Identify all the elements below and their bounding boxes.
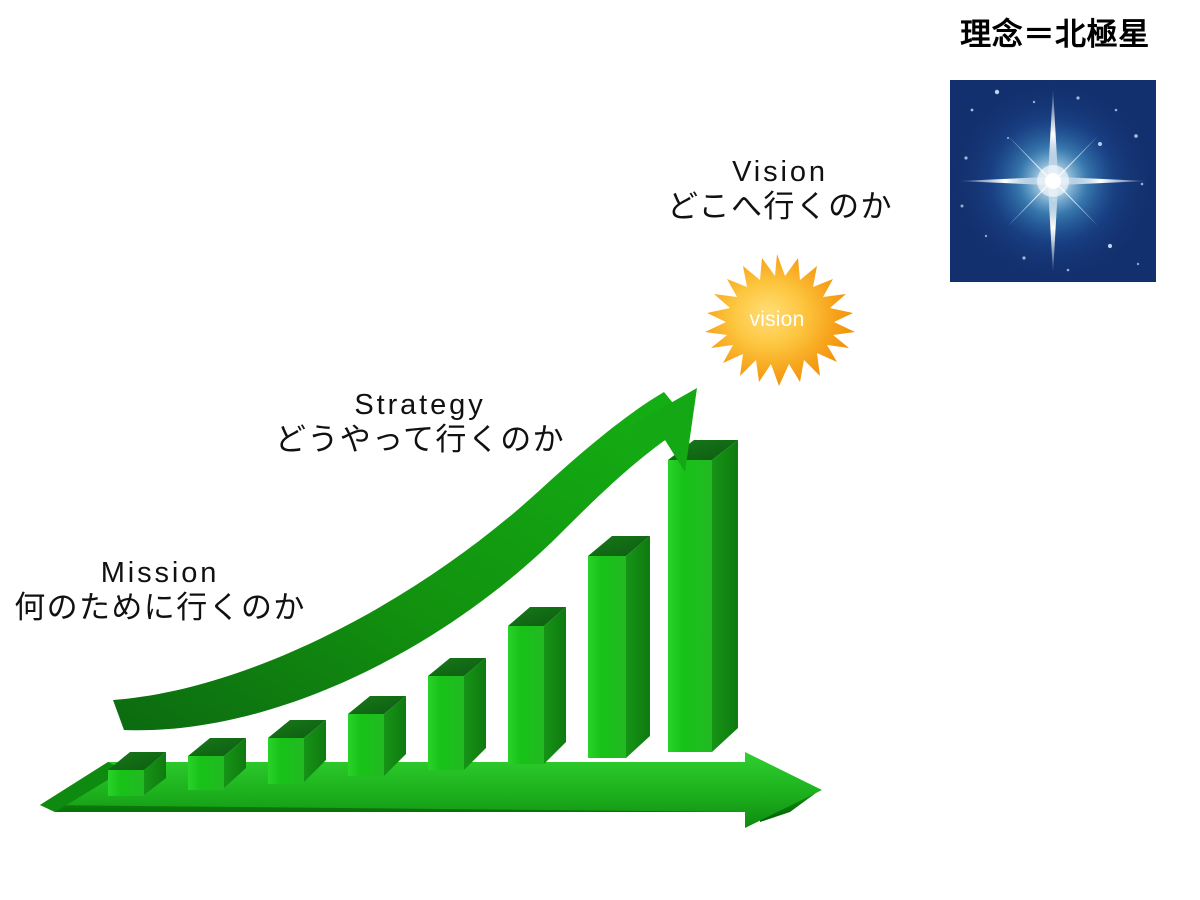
strategy-label-jp: どうやって行くのか xyxy=(255,422,585,459)
bar-8 xyxy=(668,440,738,752)
bar-5 xyxy=(428,658,486,770)
vision-sun-badge: vision xyxy=(697,252,857,388)
mission-label-jp: 何のために行くのか xyxy=(0,590,320,627)
north-star-title: 理念＝北極星 xyxy=(930,18,1180,52)
slide-canvas: vision Mission 何のために行くのか Strategy どうやって行… xyxy=(0,0,1200,900)
north-star-panel: 理念＝北極星 xyxy=(930,18,1180,288)
mission-label: Mission 何のために行くのか xyxy=(0,556,320,627)
bar-6 xyxy=(508,607,566,764)
vision-label-jp: どこへ行くのか xyxy=(640,189,920,226)
strategy-label-en: Strategy xyxy=(255,388,585,422)
north-star-icon xyxy=(950,80,1156,282)
strategy-label: Strategy どうやって行くのか xyxy=(255,388,585,459)
north-star-photo xyxy=(950,80,1156,282)
mission-label-en: Mission xyxy=(0,556,320,590)
vision-sun-label: vision xyxy=(697,252,857,388)
vision-label-en: Vision xyxy=(640,155,920,189)
vision-label: Vision どこへ行くのか xyxy=(640,155,920,226)
bar-7 xyxy=(588,536,650,758)
